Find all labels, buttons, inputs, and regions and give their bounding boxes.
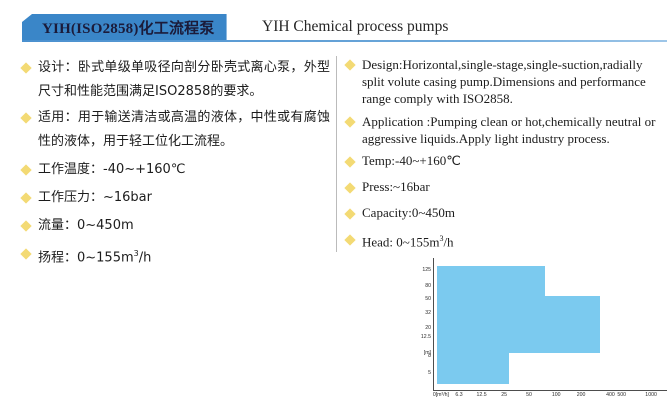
diamond-bullet-icon (344, 234, 355, 245)
spec-pressure-cn: 工作压力：~16bar (38, 186, 330, 210)
left-spec-column: 设计：卧式单级单吸径向剖分卧壳式离心泵，外型尺寸和性能范围满足ISO2858的要… (22, 56, 330, 406)
chart-plot-area: 1258050322012.5[m]85 0[m³/h]6.312.525501… (407, 258, 659, 390)
head-unit-tail-cn: /h (139, 250, 152, 265)
chart-y-tick: 5 (393, 370, 431, 376)
list-item: 工作压力：~16bar (22, 186, 330, 210)
chart-y-tick: 32 (393, 310, 431, 316)
head-unit-tail-en: /h (443, 234, 453, 249)
spec-temperature-cn: 工作温度：-40~+160℃ (38, 158, 330, 182)
chart-x-tick: 50 (526, 392, 532, 398)
chart-x-tick: 1000 (645, 392, 657, 398)
chart-region (509, 266, 545, 352)
spec-temperature-en: Temp:-40~+160℃ (362, 153, 661, 169)
chart-x-tick: 0[m³/h] (433, 392, 449, 398)
chart-x-tick: 6.3 (455, 392, 462, 398)
spec-pressure-en: Press:~16bar (362, 179, 661, 195)
chart-y-tick: 12.5 (393, 334, 431, 340)
chart-x-tick: 500 (617, 392, 626, 398)
spec-head-en: Head: 0~155m3/h (362, 231, 661, 250)
spec-capacity-en: Capacity:0~450m (362, 205, 661, 221)
chart-y-tick: 20 (393, 325, 431, 331)
diamond-bullet-icon (20, 112, 31, 123)
diamond-bullet-icon (344, 208, 355, 219)
banner-title-en: YIH Chemical process pumps (262, 14, 448, 40)
chart-x-tick: 25 (501, 392, 507, 398)
list-item: Temp:-40~+160℃ (346, 153, 661, 169)
spec-head-cn-text: 扬程：0~155m (38, 250, 134, 265)
column-divider (336, 56, 337, 252)
chart-x-axis (433, 390, 667, 391)
list-item: 扬程：0~155m3/h (22, 242, 330, 270)
diamond-bullet-icon (344, 156, 355, 167)
list-item: 设计：卧式单级单吸径向剖分卧壳式离心泵，外型尺寸和性能范围满足ISO2858的要… (22, 56, 330, 104)
banner-title-cn: YIH(ISO2858)化工流程泵 (22, 14, 227, 40)
chart-y-tick: 80 (393, 283, 431, 289)
spec-head-cn: 扬程：0~155m3/h (38, 242, 330, 270)
diamond-bullet-icon (344, 59, 355, 70)
list-item: 适用：用于输送清洁或高温的液体，中性或有腐蚀性的液体，用于轻工位化工流程。 (22, 106, 330, 154)
chart-x-tick: 12.5 (477, 392, 487, 398)
spec-design-en: Design:Horizontal,single-stage,single-su… (362, 56, 661, 107)
spec-application-cn: 适用：用于输送清洁或高温的液体，中性或有腐蚀性的液体，用于轻工位化工流程。 (38, 106, 330, 154)
chart-x-tick: 200 (577, 392, 586, 398)
spec-design-cn: 设计：卧式单级单吸径向剖分卧壳式离心泵，外型尺寸和性能范围满足ISO2858的要… (38, 56, 330, 104)
chart-region (437, 266, 509, 384)
list-item: Press:~16bar (346, 179, 661, 195)
list-item: Design:Horizontal,single-stage,single-su… (346, 56, 661, 107)
list-item: Capacity:0~450m (346, 205, 661, 221)
chart-x-tick: 100 (552, 392, 561, 398)
spec-head-en-text: Head: 0~155m (362, 234, 439, 249)
diamond-bullet-icon (20, 164, 31, 175)
diamond-bullet-icon (344, 116, 355, 127)
list-item: Head: 0~155m3/h (346, 231, 661, 250)
diamond-bullet-icon (20, 192, 31, 203)
list-item: 流量：0~450m (22, 214, 330, 238)
chart-y-tick: 50 (393, 296, 431, 302)
header-divider-rule (22, 40, 667, 42)
diamond-bullet-icon (20, 220, 31, 231)
list-item: 工作温度：-40~+160℃ (22, 158, 330, 182)
chart-y-tick: 125 (393, 267, 431, 273)
list-item: Application :Pumping clean or hot,chemic… (346, 113, 661, 147)
diamond-bullet-icon (20, 62, 31, 73)
diamond-bullet-icon (20, 248, 31, 259)
chart-x-tick: 400 (606, 392, 615, 398)
spec-application-en: Application :Pumping clean or hot,chemic… (362, 113, 661, 147)
performance-range-chart: 1258050322012.5[m]85 0[m³/h]6.312.525501… (380, 256, 665, 404)
chart-y-tick: 8 (393, 353, 431, 359)
spec-capacity-cn: 流量：0~450m (38, 214, 330, 238)
diamond-bullet-icon (344, 182, 355, 193)
chart-region (545, 296, 599, 353)
chart-y-axis (433, 258, 434, 390)
